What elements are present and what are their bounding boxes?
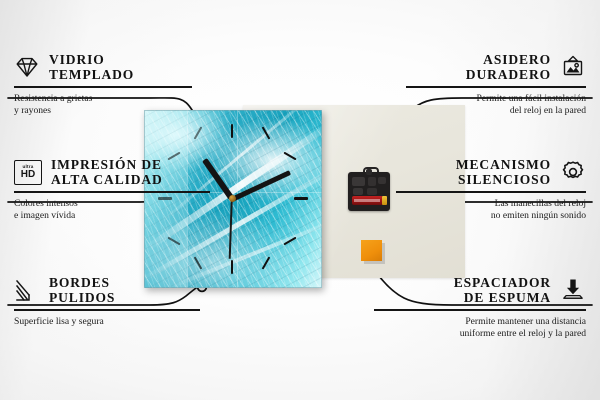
feature-subtitle: Colores intensos e imagen vívida [14, 198, 210, 223]
ultra-hd-large-text: HD [21, 170, 35, 180]
feature-title-line1: ASIDERO [466, 52, 551, 67]
feature-bordes-pulidos: BORDES PULIDOS Superficie lisa y segura [14, 275, 200, 328]
feature-subtitle: Resistencia a grietas y rayones [14, 93, 192, 118]
clock-mechanism-module [348, 167, 390, 211]
divider [406, 86, 586, 88]
feature-subtitle: Permite mantener una distancia uniforme … [374, 316, 586, 341]
feature-title-line1: MECANISMO [456, 157, 551, 172]
divider [14, 309, 200, 311]
clock-center-cap [229, 195, 236, 202]
feature-subtitle: Las manecillas del reloj no emiten ningú… [396, 198, 586, 223]
divider [374, 309, 586, 311]
feature-asidero-duradero: ASIDERO DURADERO Permite una fácil insta… [406, 52, 586, 118]
feature-title-line2: TEMPLADO [49, 67, 134, 82]
diamond-icon [14, 54, 40, 80]
feature-title-line2: DURADERO [466, 67, 551, 82]
infographic-canvas: VIDRIO TEMPLADO Resistencia a grietas y … [0, 0, 600, 400]
feature-subtitle: Superficie lisa y segura [14, 316, 200, 329]
feature-title-line2: SILENCIOSO [456, 172, 551, 187]
feature-title-line1: BORDES [49, 275, 115, 290]
feature-title-line1: ESPACIADOR [454, 275, 551, 290]
feature-title-line2: PULIDOS [49, 290, 115, 305]
gear-icon [560, 159, 586, 185]
polished-edges-icon [14, 277, 40, 303]
feature-title-line1: IMPRESIÓN DE [51, 157, 163, 172]
feature-mecanismo-silencioso: MECANISMO SILENCIOSO Las manecillas del … [396, 157, 586, 223]
feature-subtitle: Permite una fácil instalación del reloj … [406, 93, 586, 118]
clock-tick [294, 197, 308, 200]
clock-tick [231, 260, 233, 274]
feature-title-line1: VIDRIO [49, 52, 134, 67]
divider [14, 191, 210, 193]
divider [396, 191, 586, 193]
feature-impresion-alta-calidad: ultra HD IMPRESIÓN DE ALTA CALIDAD Color… [14, 157, 210, 223]
foam-spacer [361, 240, 382, 261]
ultra-hd-icon: ultra HD [14, 160, 42, 185]
clock-tick [231, 124, 233, 138]
wall-hanger-frame-icon [560, 54, 586, 80]
feature-title-line2: DE ESPUMA [454, 290, 551, 305]
divider [14, 86, 192, 88]
feature-espaciador-de-espuma: ESPACIADOR DE ESPUMA Permite mantener un… [374, 275, 586, 341]
down-arrow-pad-icon [560, 277, 586, 303]
feature-vidrio-templado: VIDRIO TEMPLADO Resistencia a grietas y … [14, 52, 192, 118]
feature-title-line2: ALTA CALIDAD [51, 172, 163, 187]
